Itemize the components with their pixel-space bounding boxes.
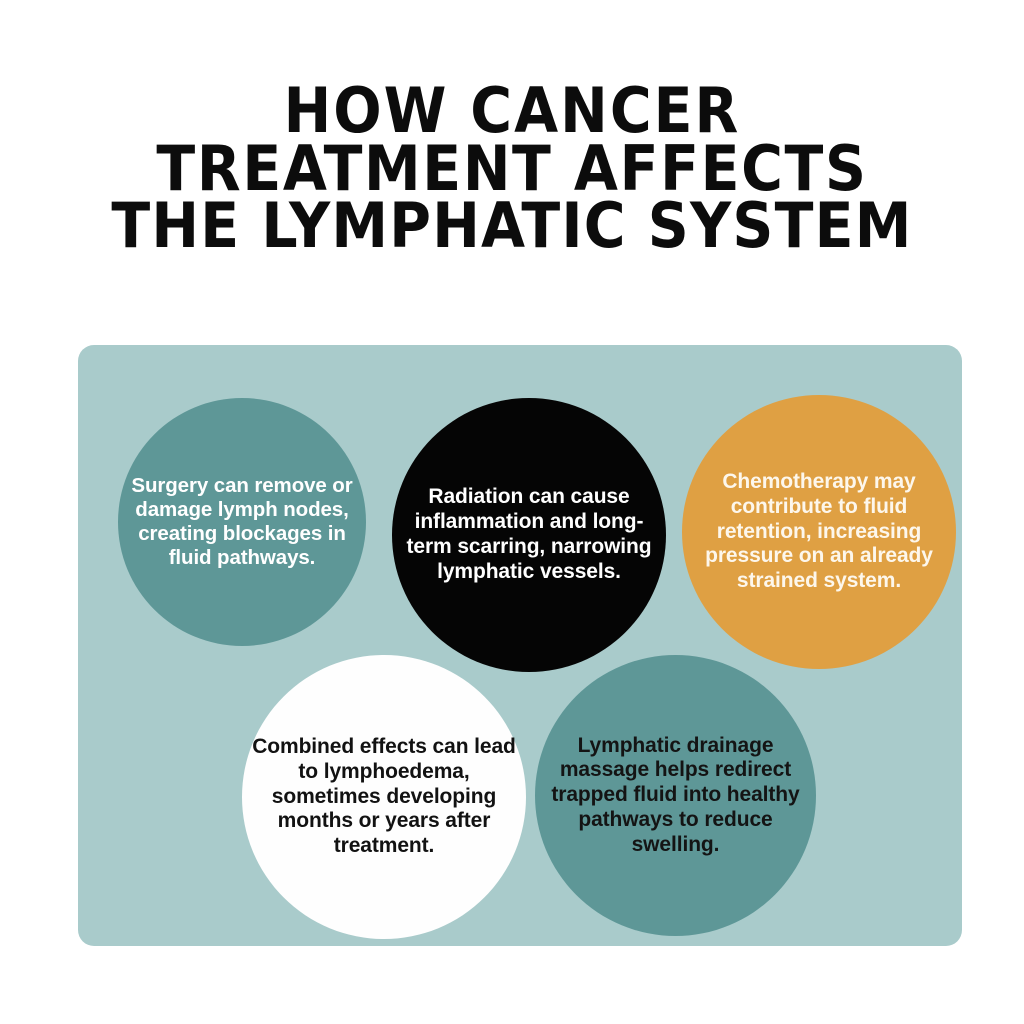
bubble-chemotherapy: Chemotherapy may contribute to fluid ret… <box>682 395 956 669</box>
bubble-radiation-text: Radiation can cause inflammation and lon… <box>392 485 666 584</box>
bubble-lymphatic-drainage-massage: Lymphatic drainage massage helps redirec… <box>535 655 816 936</box>
bubble-lymphatic-drainage-massage-text: Lymphatic drainage massage helps redirec… <box>535 734 816 858</box>
page-title: HOW CANCER TREATMENT AFFECTS THE LYMPHAT… <box>0 82 1024 255</box>
bubble-chemotherapy-text: Chemotherapy may contribute to fluid ret… <box>682 470 956 594</box>
bubble-surgery: Surgery can remove or damage lymph nodes… <box>118 398 366 646</box>
bubble-combined-effects: Combined effects can lead to lymphoedema… <box>242 655 526 939</box>
page-title-line-3: THE LYMPHATiC SYSTEM <box>0 197 1024 255</box>
bubble-radiation: Radiation can cause inflammation and lon… <box>392 398 666 672</box>
infographic-canvas: HOW CANCER TREATMENT AFFECTS THE LYMPHAT… <box>0 0 1024 1024</box>
bubble-combined-effects-text: Combined effects can lead to lymphoedema… <box>242 735 526 859</box>
bubble-surgery-text: Surgery can remove or damage lymph nodes… <box>118 474 366 571</box>
content-panel: Surgery can remove or damage lymph nodes… <box>78 345 962 946</box>
